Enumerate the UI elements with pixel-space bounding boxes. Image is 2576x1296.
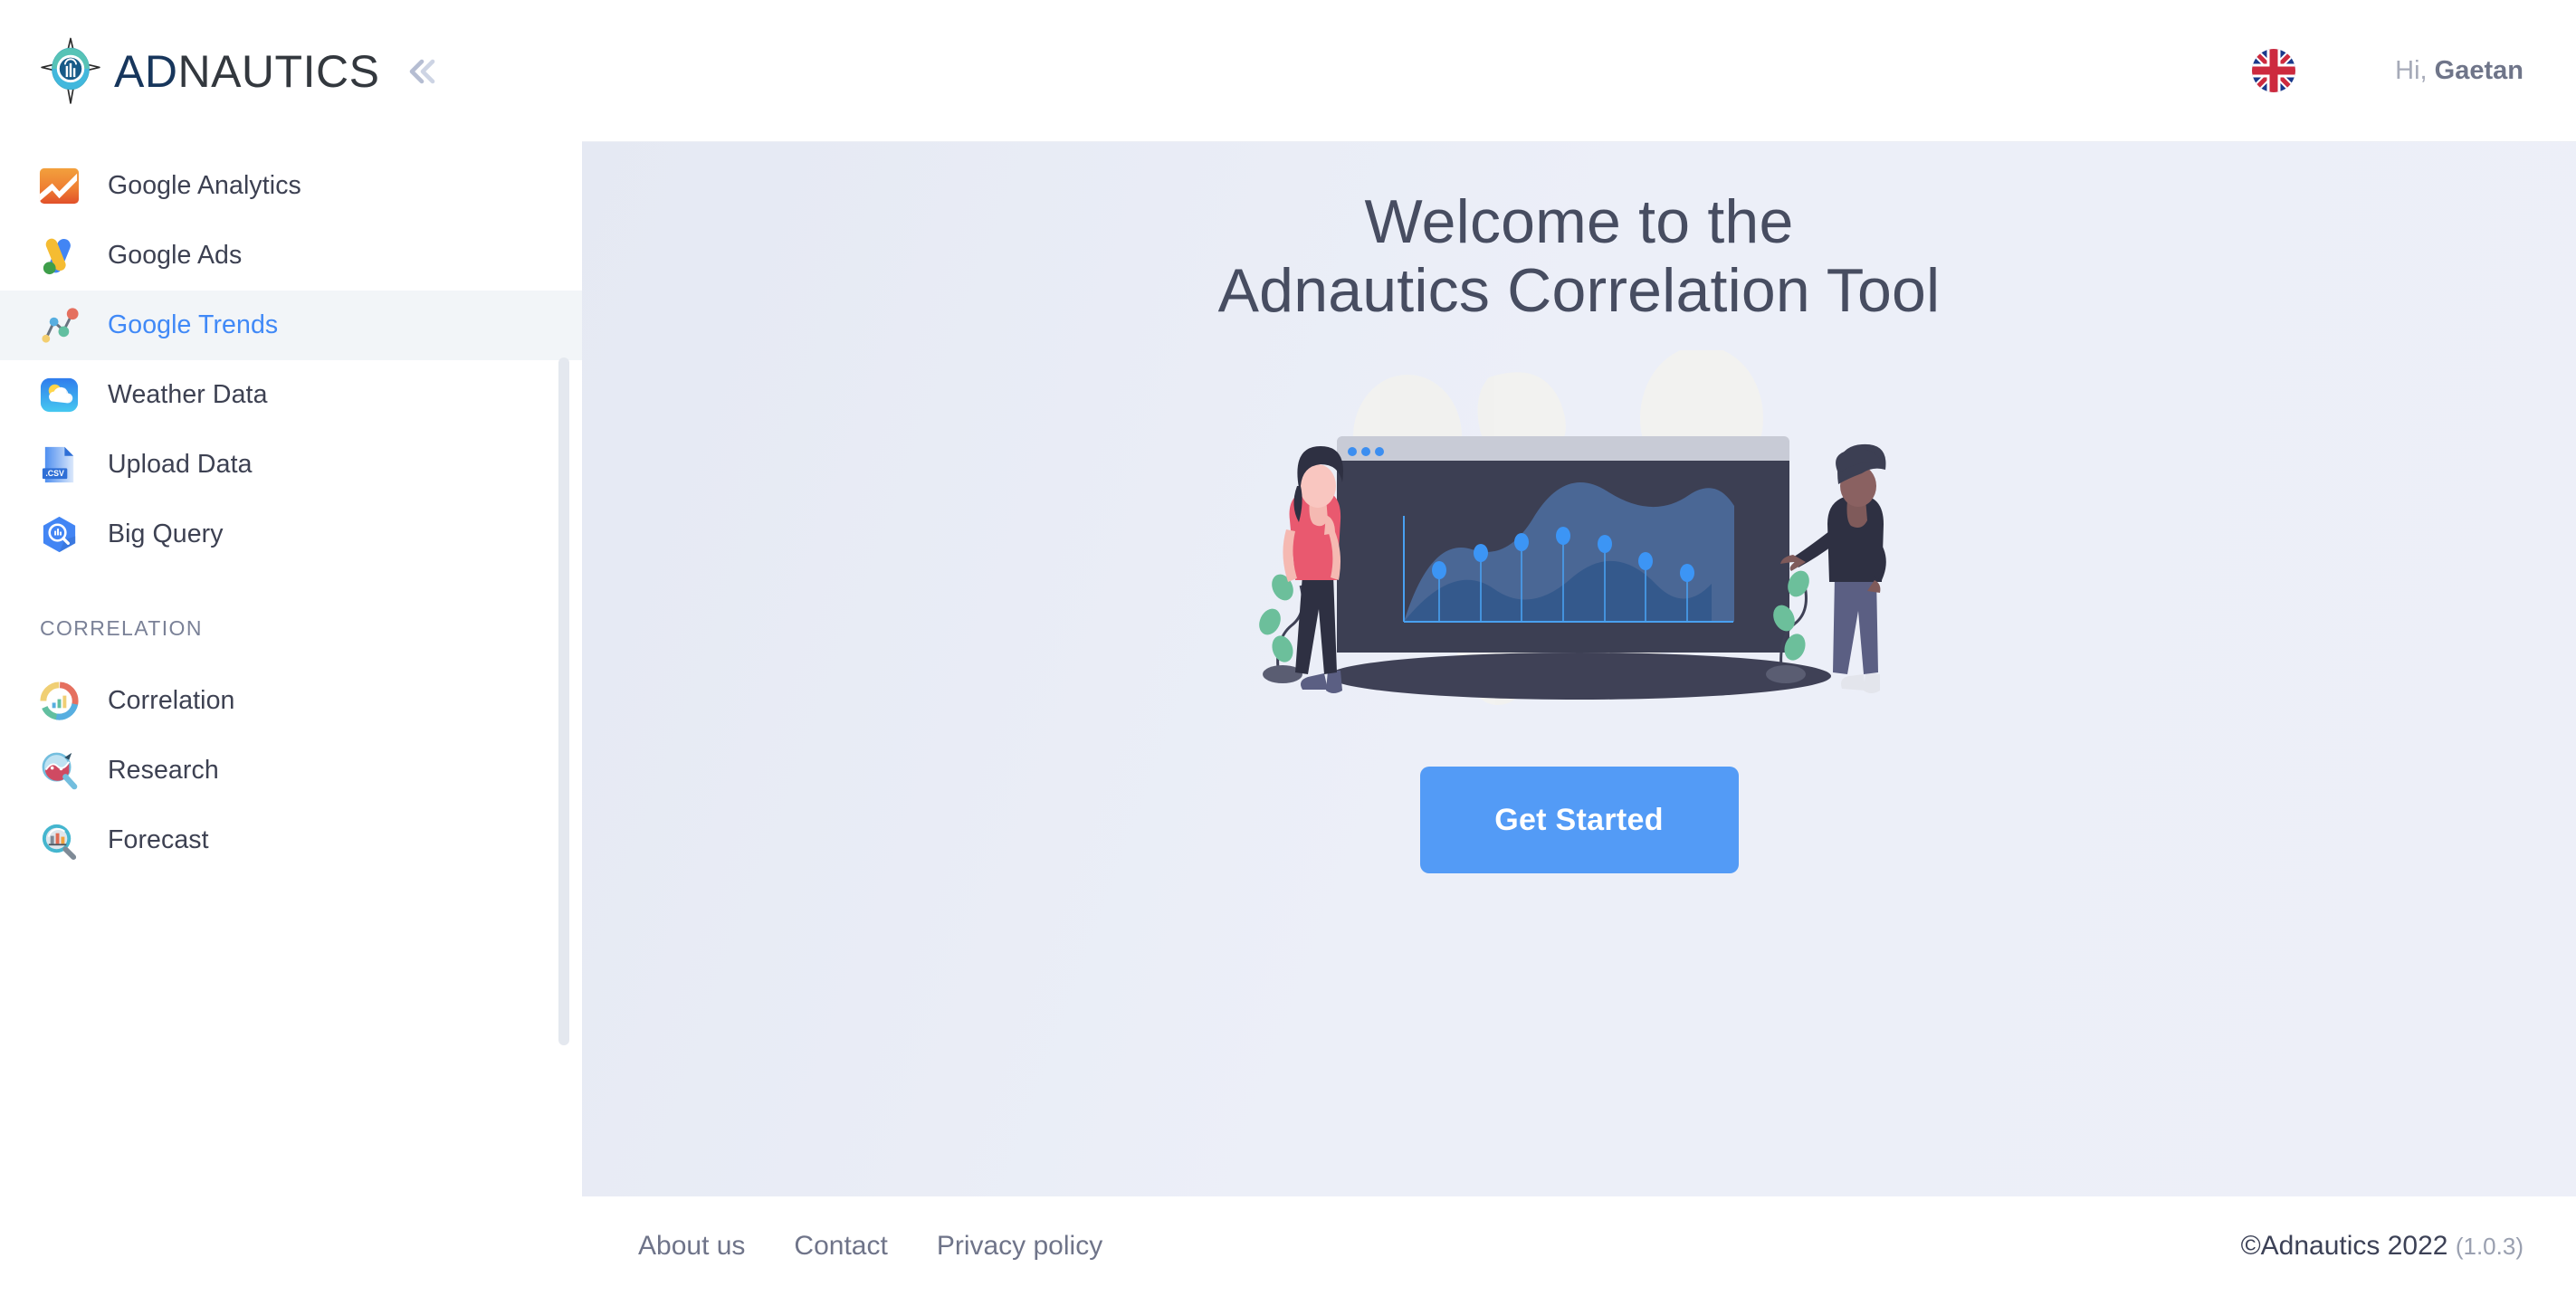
sidebar: ADNAUTICS [0,0,582,1296]
sidebar-item-correlation[interactable]: Correlation [0,666,582,736]
sidebar-item-label: Correlation [108,686,235,716]
sidebar-item-label: Upload Data [108,450,253,480]
weather-data-icon [38,374,81,416]
sidebar-item-label: Research [108,756,219,786]
upload-csv-icon: .CSV [38,443,81,486]
google-analytics-icon [38,165,81,207]
hero-section: Welcome to the Adnautics Correlation Too… [582,142,2576,1196]
main-content: Hi, Gaetan Welcome to the Adnautics Corr… [582,0,2576,1296]
user-greeting[interactable]: Hi, Gaetan [2395,56,2524,86]
big-query-icon [38,513,81,556]
google-ads-icon [38,234,81,277]
correlation-donut-icon [38,680,81,722]
uk-flag-icon[interactable] [2252,49,2295,92]
compass-logo-icon [36,37,105,106]
greeting-prefix: Hi, [2395,56,2427,85]
app-version: (1.0.3) [2456,1233,2524,1260]
cta-wrapper: Get Started [1420,767,1739,873]
sidebar-item-label: Weather Data [108,380,268,410]
sidebar-scrollbar[interactable] [558,357,569,1045]
footer-link-about-us[interactable]: About us [638,1231,745,1262]
brand-header[interactable]: ADNAUTICS [0,0,582,142]
page-title-line1: Welcome to the [1364,187,1793,256]
page-title: Welcome to the Adnautics Correlation Too… [1218,187,1941,325]
google-trends-icon [38,304,81,347]
footer-link-privacy-policy[interactable]: Privacy policy [937,1231,1102,1262]
sidebar-item-google-analytics[interactable]: Google Analytics [0,151,582,221]
forecast-magnifier-icon [38,819,81,862]
sidebar-item-label: Google Analytics [108,171,301,201]
svg-text:.CSV: .CSV [45,469,64,478]
sidebar-item-upload-data[interactable]: .CSV Upload Data [0,430,582,500]
page-title-line2: Adnautics Correlation Tool [1218,256,1941,325]
sidebar-item-forecast[interactable]: Forecast [0,805,582,875]
sidebar-item-label: Google Ads [108,241,242,271]
sidebar-section-title: CORRELATION [0,616,582,641]
sidebar-nav: Google Analytics Google Ads [0,142,582,875]
data-presentation-illustration [1226,350,1932,739]
copyright-text: ©Adnautics 2022 [2241,1231,2448,1261]
brand-name: ADNAUTICS [114,45,379,98]
sidebar-item-google-ads[interactable]: Google Ads [0,221,582,291]
brand-name-nautics: NAUTICS [177,46,379,97]
sidebar-item-label: Google Trends [108,310,278,340]
brand-name-ad: AD [114,46,177,97]
sidebar-item-big-query[interactable]: Big Query [0,500,582,569]
footer-links: About us Contact Privacy policy [638,1231,1102,1262]
sidebar-item-weather-data[interactable]: Weather Data [0,360,582,430]
footer: About us Contact Privacy policy ©Adnauti… [582,1196,2576,1296]
sidebar-item-google-trends[interactable]: Google Trends [0,291,582,360]
application-root: ADNAUTICS [0,0,2576,1296]
double-chevron-left-icon[interactable] [396,47,444,96]
sidebar-item-research[interactable]: Research [0,736,582,805]
user-name: Gaetan [2435,56,2524,85]
copyright: ©Adnautics 2022 (1.0.3) [2241,1231,2524,1262]
topbar: Hi, Gaetan [582,0,2576,142]
sidebar-item-label: Big Query [108,519,224,549]
research-magnifier-icon [38,749,81,792]
get-started-button[interactable]: Get Started [1420,767,1739,873]
sidebar-item-label: Forecast [108,825,209,855]
footer-link-contact[interactable]: Contact [794,1231,887,1262]
